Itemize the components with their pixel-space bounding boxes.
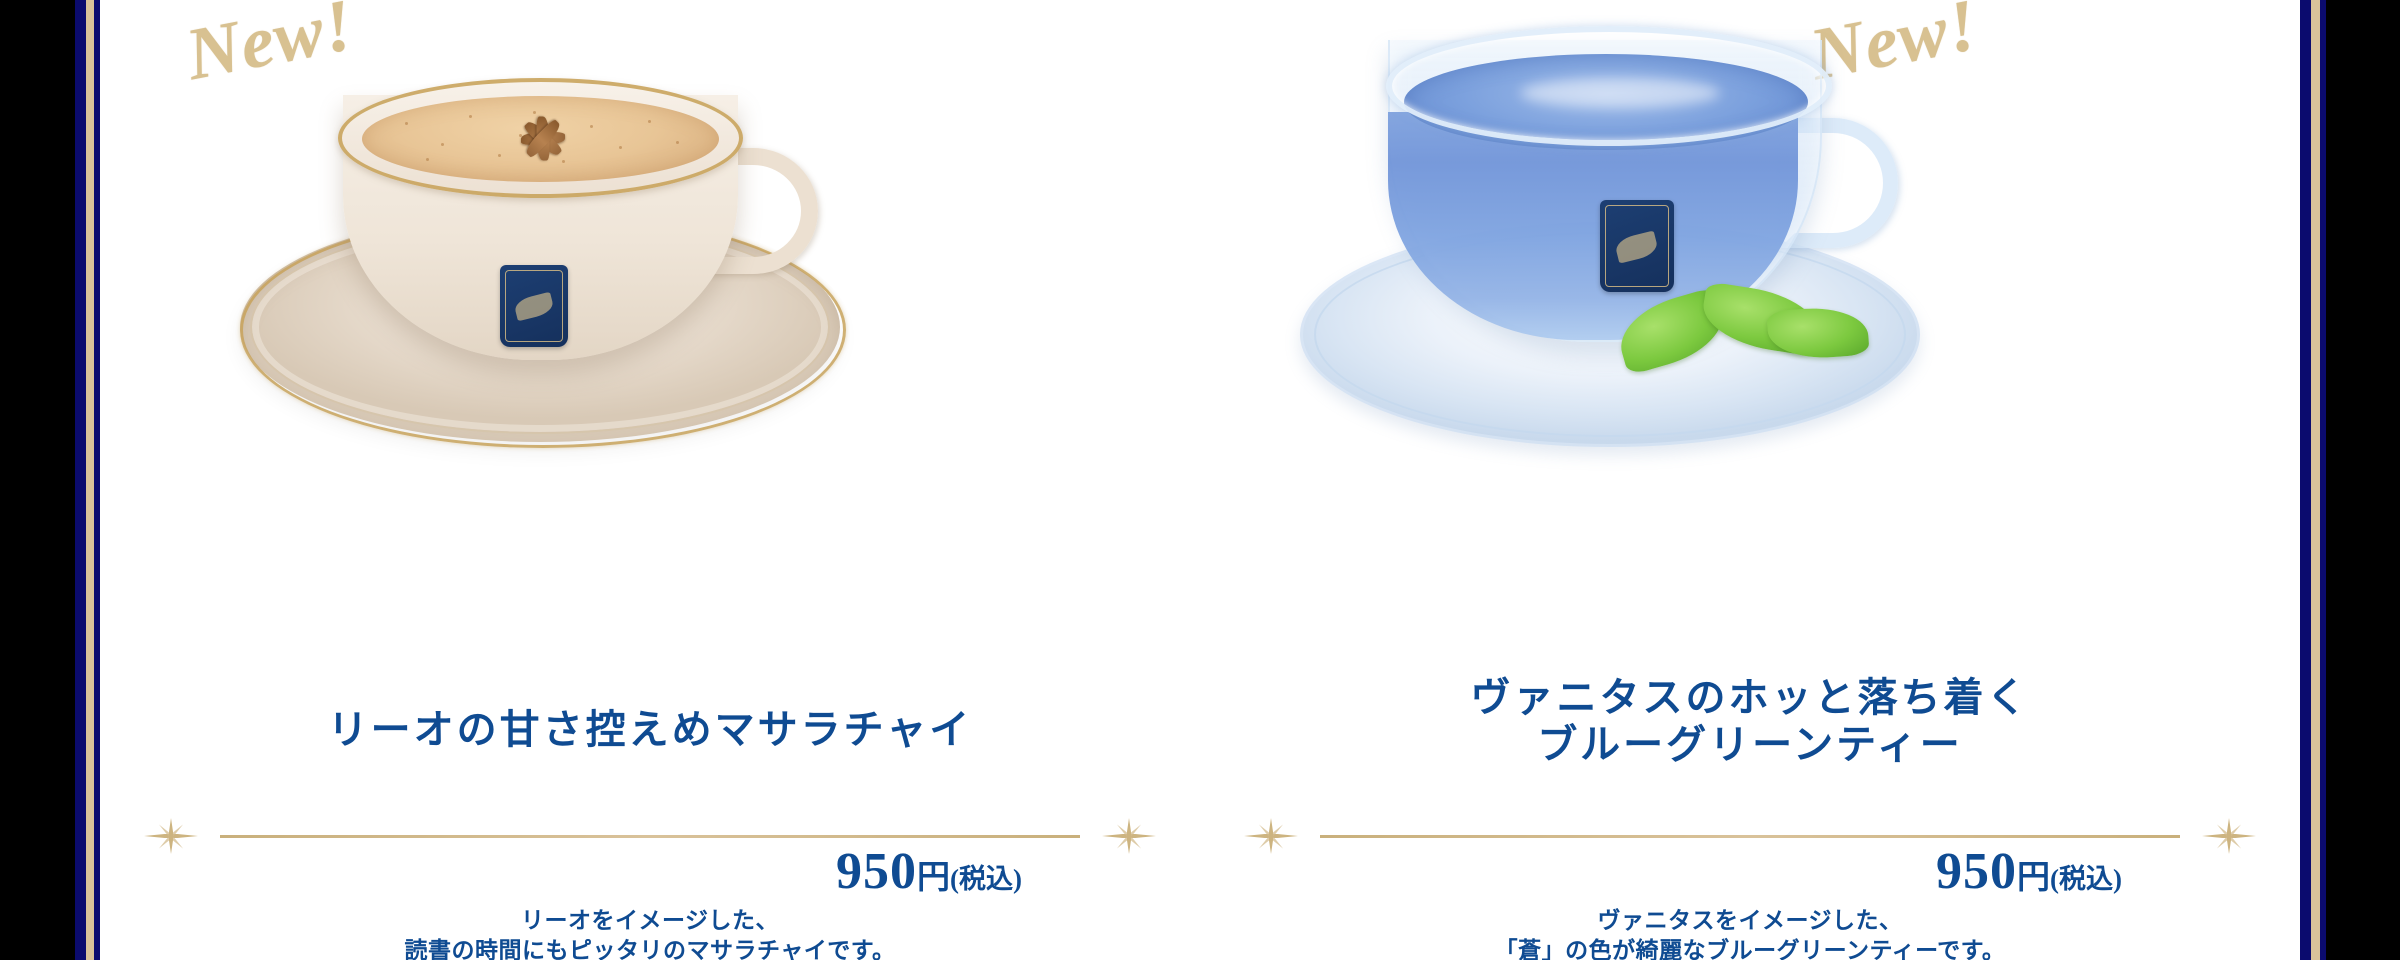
product-title: リーオの甘さ控えめマサラチャイ	[100, 706, 1200, 753]
glass-rim	[1386, 26, 1832, 146]
sparkle-icon-left	[1244, 818, 1298, 854]
product-price: 950円(税込)	[1936, 842, 2122, 901]
menu-page: New!	[0, 0, 2400, 960]
product-description: ヴァニタスをイメージした、 「蒼」の色が綺麗なブルーグリーンティーです。	[1200, 905, 2300, 960]
product-description: リーオをイメージした、 読書の時間にもピッタリのマサラチャイです。	[100, 905, 1200, 960]
divider-line	[1320, 835, 2180, 838]
product-info: ヴァニタスのホッと落ち着く ブルーグリーンティー 950円(税込) ヴァニタスを…	[1200, 690, 2300, 960]
frame-navy-bar-right-outer	[2320, 0, 2326, 960]
divider-line	[220, 835, 1080, 838]
product-card-masala-chai: New!	[100, 0, 1200, 960]
star-anise-icon	[498, 112, 588, 164]
frame-gold-bar-left	[86, 0, 94, 960]
product-price: 950円(税込)	[836, 842, 1022, 901]
price-tax-note: (税込)	[2050, 864, 2122, 894]
price-number: 950	[1936, 843, 2017, 900]
anniversaire-crest-icon	[500, 265, 568, 347]
frame-navy-bar-left-outer	[75, 0, 86, 960]
frame-navy-bar-right-inner	[2300, 0, 2311, 960]
frame-gold-bar-right	[2311, 0, 2320, 960]
price-tax-note: (税込)	[950, 864, 1022, 894]
price-currency: 円	[917, 860, 950, 896]
sparkle-icon-right	[2202, 818, 2256, 854]
price-number: 950	[836, 843, 917, 900]
price-currency: 円	[2017, 860, 2050, 896]
sparkle-icon-left	[144, 818, 198, 854]
product-photo-blue-green-tea	[1200, 0, 2300, 690]
anniversaire-crest-icon	[1600, 200, 1674, 292]
menu-canvas: New!	[100, 0, 2300, 960]
product-info: リーオの甘さ控えめマサラチャイ 950円(税込) リーオをイメージした、 読書の…	[100, 690, 1200, 960]
photo-stage	[1400, 0, 2100, 690]
product-photo-masala-chai	[100, 0, 1200, 690]
product-card-blue-green-tea: New! ヴァニタスのホッと落	[1200, 0, 2300, 960]
sparkle-icon-right	[1102, 818, 1156, 854]
mint-garnish	[1618, 282, 1868, 372]
product-title: ヴァニタスのホッと落ち着く ブルーグリーンティー	[1200, 674, 2300, 768]
